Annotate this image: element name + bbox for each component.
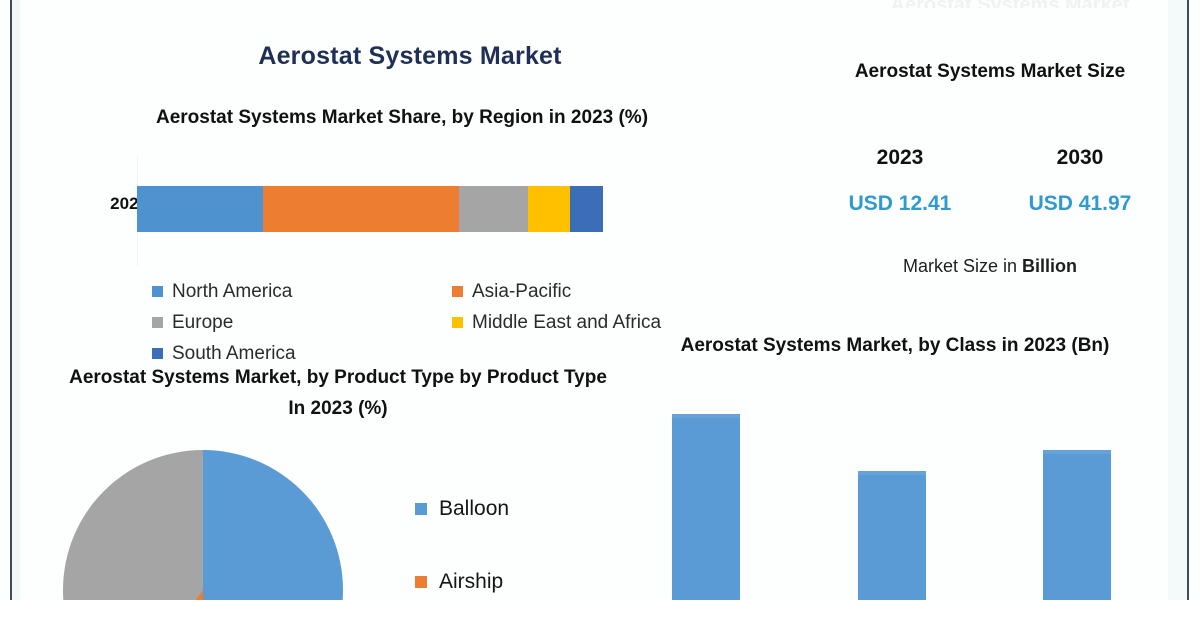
market-size-year: 2023 (810, 146, 990, 170)
legend-item[interactable]: Europe (152, 307, 452, 338)
region-segment (263, 186, 459, 232)
left-inner-band (12, 0, 20, 600)
legend-swatch-icon (152, 317, 163, 328)
legend-swatch-icon (452, 317, 463, 328)
legend-swatch-icon (452, 286, 463, 297)
market-size-value: USD 41.97 (990, 192, 1170, 216)
market-size-values: 2023USD 12.412030USD 41.97 (810, 146, 1170, 216)
infographic-canvas: Aerostat Systems Market Aerostat Systems… (0, 0, 1200, 600)
left-border-line (10, 0, 12, 600)
product-type-legend: BalloonAirship (415, 472, 655, 618)
legend-label: Asia-Pacific (472, 281, 571, 303)
region-legend: North AmericaAsia-PacificEuropeMiddle Ea… (152, 276, 712, 369)
legend-swatch-icon (152, 348, 163, 359)
class-bar-cap (1043, 450, 1111, 454)
legend-label: Europe (172, 312, 233, 334)
legend-swatch-icon (415, 576, 427, 588)
market-size-note-prefix: Market Size in (903, 256, 1022, 276)
pie-slices (63, 450, 343, 600)
class-bar (672, 414, 740, 600)
region-segment (528, 186, 570, 232)
legend-label: North America (172, 281, 292, 303)
region-segment (137, 186, 263, 232)
class-bar-cap (672, 414, 740, 418)
market-size-column: 2023USD 12.41 (810, 146, 990, 216)
region-category-label: 2023 (62, 194, 148, 214)
legend-item[interactable]: Airship (415, 545, 655, 618)
market-size-year: 2030 (990, 146, 1170, 170)
market-size-unit: Billion (1022, 256, 1077, 276)
legend-item[interactable]: Asia-Pacific (452, 276, 702, 307)
legend-swatch-icon (152, 286, 163, 297)
legend-swatch-icon (415, 503, 427, 515)
market-size-title: Aerostat Systems Market Size (810, 58, 1170, 86)
class-bar-chart: Aerostat Systems Market, by Class in 202… (655, 330, 1175, 600)
legend-item[interactable]: North America (152, 276, 452, 307)
pie-plot-area (63, 450, 343, 600)
page-title: Aerostat Systems Market (130, 42, 690, 71)
region-plot-area (137, 156, 647, 266)
class-plot-area (655, 385, 1175, 600)
class-chart-title: Aerostat Systems Market, by Class in 202… (665, 330, 1125, 361)
legend-label: Balloon (439, 497, 509, 521)
market-size-column: 2030USD 41.97 (990, 146, 1170, 216)
region-share-chart: Aerostat Systems Market Share, by Region… (20, 104, 660, 344)
class-bar (858, 471, 926, 600)
market-size-panel: Aerostat Systems Market Size 2023USD 12.… (790, 58, 1190, 308)
legend-label: Middle East and Africa (472, 312, 661, 334)
market-size-value: USD 12.41 (810, 192, 990, 216)
region-stacked-bar (137, 186, 603, 232)
product-type-chart: Aerostat Systems Market, by Product Type… (20, 362, 660, 600)
product-type-chart-title: Aerostat Systems Market, by Product Type… (68, 362, 608, 424)
clipped-header-text: Aerostat Systems Market (880, 0, 1140, 8)
legend-item[interactable]: Balloon (415, 472, 655, 545)
region-chart-title: Aerostat Systems Market Share, by Region… (132, 104, 672, 131)
market-size-note: Market Size in Billion (810, 256, 1170, 277)
class-bar (1043, 450, 1111, 601)
legend-label: Airship (439, 570, 503, 594)
region-segment (459, 186, 529, 232)
region-segment (570, 186, 603, 232)
class-bar-cap (858, 471, 926, 475)
